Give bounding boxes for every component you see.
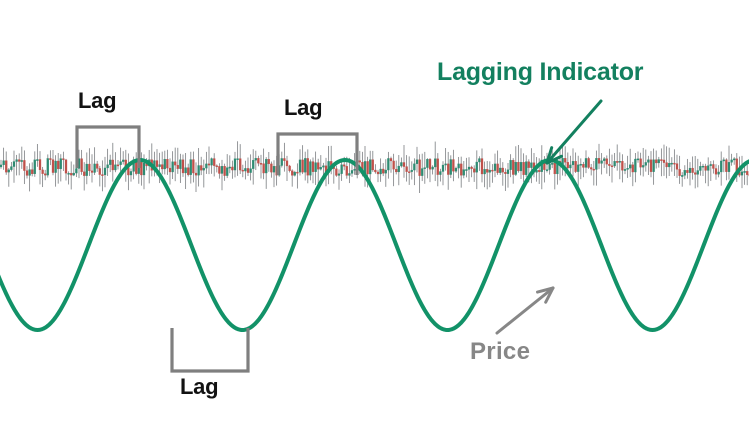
lag-label-bottom: Lag [180, 374, 218, 400]
price-label: Price [470, 338, 530, 366]
lagging-indicator-title: Lagging Indicator [437, 58, 643, 87]
lagging-indicator-series [0, 160, 749, 330]
price-arrow-shaft [497, 288, 553, 333]
lag-label-top-middle: Lag [284, 95, 322, 121]
lag-bracket-bottom [172, 328, 248, 371]
lagging-indicator-chart: Lagging Indicator Price Lag Lag Lag [0, 0, 749, 428]
lag-label-top-left: Lag [78, 88, 116, 114]
annotation-arrows [497, 101, 601, 333]
indicator-arrow-shaft [547, 101, 601, 163]
